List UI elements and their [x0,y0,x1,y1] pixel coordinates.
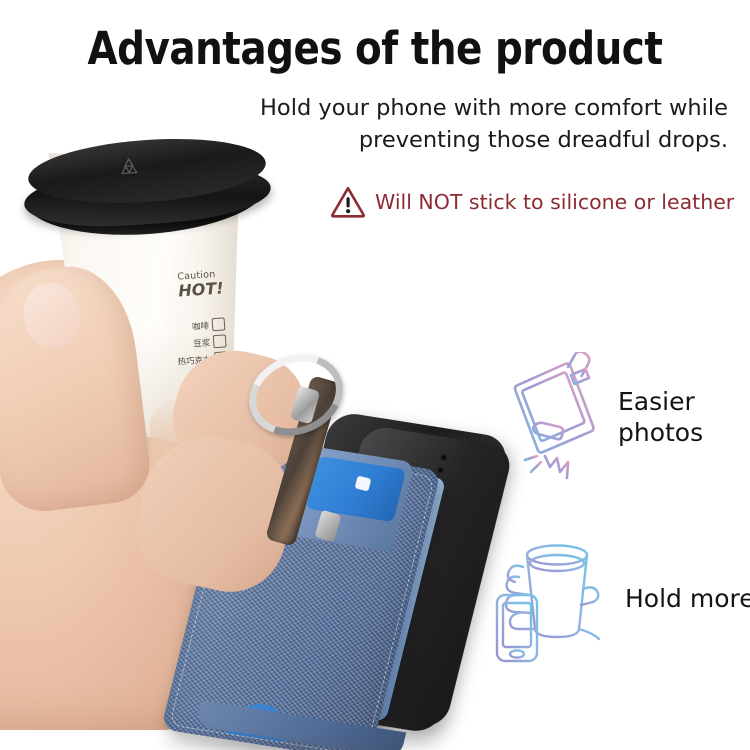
cup-option-label: 咖啡 [192,319,210,332]
product-photo: Caution HOT! 咖啡 豆浆 热巧克力 奶茶 其他1 [0,120,500,750]
cup-hot-label: HOT! [178,278,224,300]
advertisement-page: Advantages of the product Hold your phon… [0,0,750,750]
hand-holding-cup-and-phone-icon [495,533,615,663]
feature-easier-photos-label: Easier photos [618,386,703,448]
recycle-icon [117,155,140,178]
cup-option-checkbox [212,317,226,331]
feature-easier-photos: Easier photos [505,352,703,482]
feature-easier-photos-line-1: Easier [618,387,695,416]
cup-option-checkbox [213,334,227,348]
cup-caution-text: Caution HOT! [177,268,224,300]
feature-hold-more: Hold more [495,533,750,663]
cup-option-label: 豆浆 [193,336,211,349]
feature-easier-photos-line-2: photos [618,418,703,447]
page-subtitle-line-1: Hold your phone with more comfort while [260,95,728,121]
page-title: Advantages of the product [15,22,735,75]
camera-phone-flash-icon [505,352,601,482]
feature-hold-more-label: Hold more [625,583,750,614]
